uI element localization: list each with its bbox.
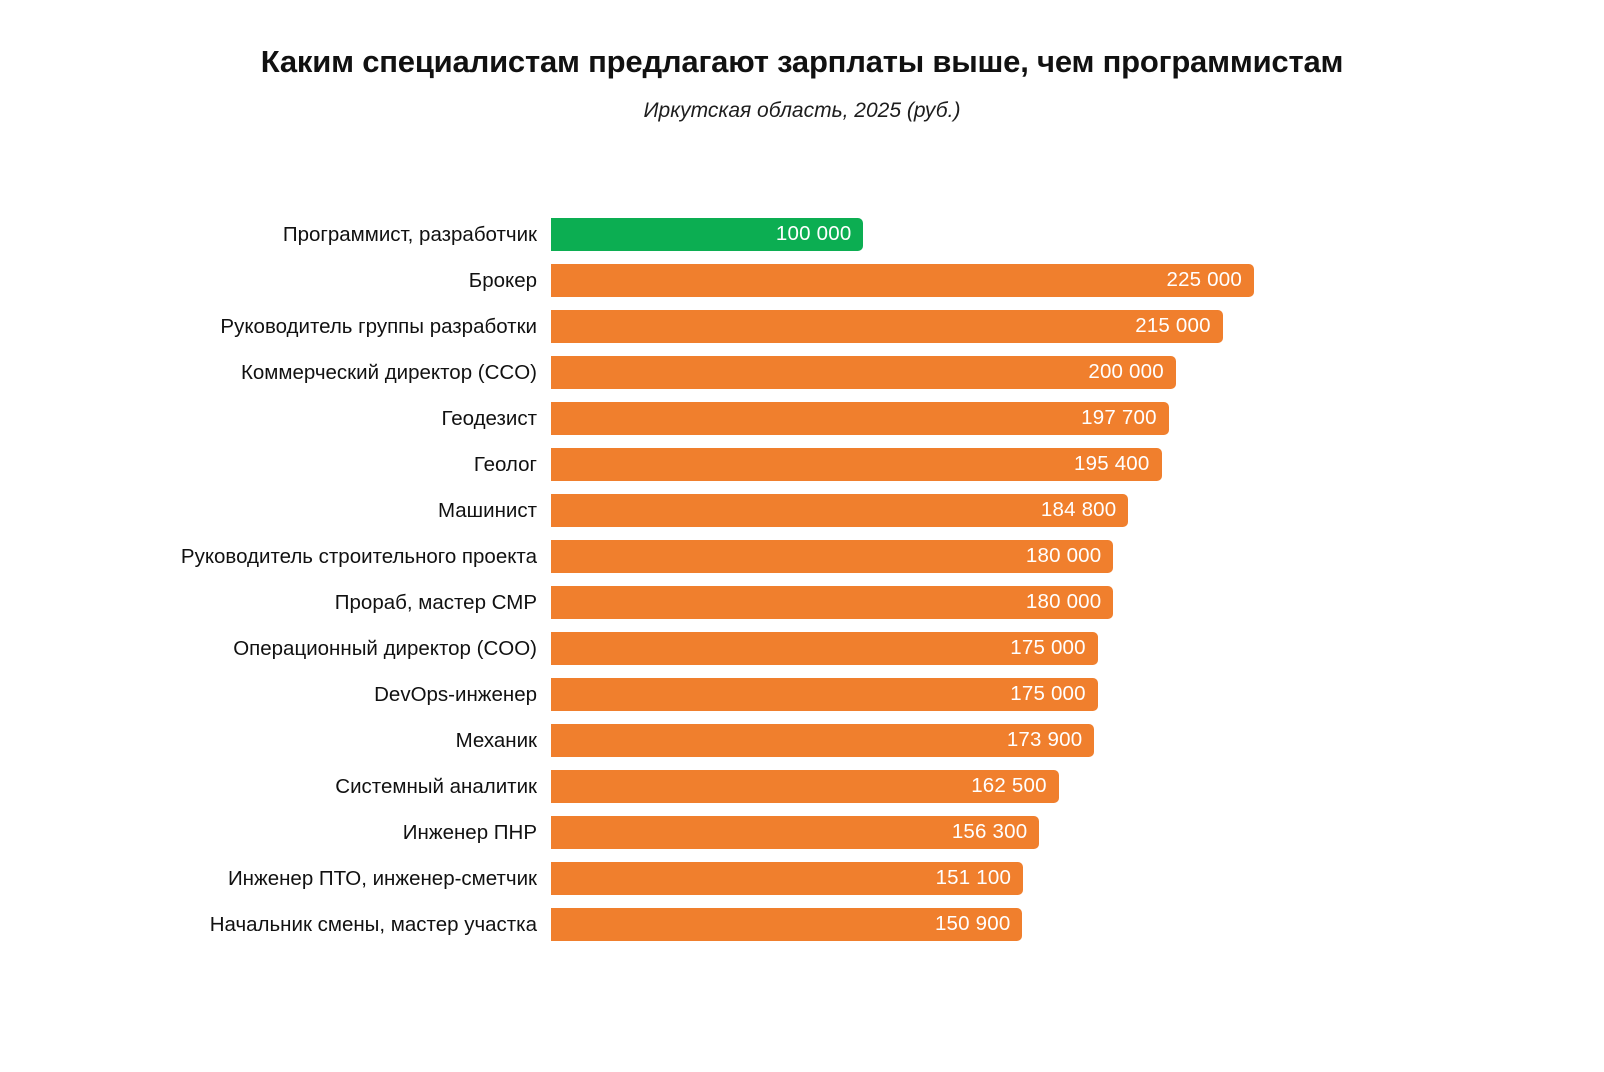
category-label: Геодезист (0, 409, 537, 430)
bar: 180 000 (551, 586, 1113, 619)
bar: 225 000 (551, 264, 1254, 297)
bar-track: 225 000 (551, 264, 1254, 297)
bar-value-label: 156 300 (952, 822, 1028, 843)
bar-value-label: 215 000 (1135, 316, 1211, 337)
chart-header: Каким специалистам предлагают зарплаты в… (0, 0, 1604, 123)
category-label: Системный аналитик (0, 777, 537, 798)
bar: 215 000 (551, 310, 1223, 343)
bar-value-label: 173 900 (1007, 730, 1083, 751)
bar-value-label: 175 000 (1010, 684, 1086, 705)
bar: 195 400 (551, 448, 1162, 481)
chart-subtitle: Иркутская область, 2025 (руб.) (0, 98, 1604, 123)
bar-track: 180 000 (551, 540, 1113, 573)
bar-track: 197 700 (551, 402, 1169, 435)
category-label: Брокер (0, 271, 537, 292)
bar-value-label: 150 900 (935, 914, 1011, 935)
chart-row: Прораб, мастер СМР180 000 (0, 580, 1604, 626)
bar-track: 200 000 (551, 356, 1176, 389)
chart-row: Механик173 900 (0, 718, 1604, 764)
bar-track: 180 000 (551, 586, 1113, 619)
bar: 151 100 (551, 862, 1023, 895)
bar-value-label: 195 400 (1074, 454, 1150, 475)
chart-row: Системный аналитик162 500 (0, 764, 1604, 810)
category-label: Геолог (0, 455, 537, 476)
bar: 100 000 (551, 218, 863, 251)
bar-value-label: 175 000 (1010, 638, 1086, 659)
chart-row: Инженер ПНР156 300 (0, 810, 1604, 856)
bar-track: 215 000 (551, 310, 1223, 343)
bar-track: 175 000 (551, 678, 1098, 711)
bar-track: 162 500 (551, 770, 1059, 803)
category-label: Начальник смены, мастер участка (0, 915, 537, 936)
bar-value-label: 162 500 (971, 776, 1047, 797)
bar: 175 000 (551, 632, 1098, 665)
category-label: Коммерческий директор (CCO) (0, 363, 537, 384)
bar: 156 300 (551, 816, 1039, 849)
bar: 162 500 (551, 770, 1059, 803)
bar-value-label: 200 000 (1088, 362, 1164, 383)
category-label: Руководитель группы разработки (0, 317, 537, 338)
bar-track: 100 000 (551, 218, 863, 251)
category-label: Руководитель строительного проекта (0, 547, 537, 568)
bar-track: 173 900 (551, 724, 1094, 757)
bar-track: 195 400 (551, 448, 1162, 481)
bar: 197 700 (551, 402, 1169, 435)
bar-track: 151 100 (551, 862, 1023, 895)
page-title: Каким специалистам предлагают зарплаты в… (92, 44, 1512, 81)
category-label: DevOps-инженер (0, 685, 537, 706)
bar-track: 156 300 (551, 816, 1039, 849)
bar-track: 150 900 (551, 908, 1022, 941)
chart-row: Руководитель группы разработки215 000 (0, 304, 1604, 350)
chart-row: Инженер ПТО, инженер-сметчик151 100 (0, 856, 1604, 902)
category-label: Механик (0, 731, 537, 752)
category-label: Инженер ПНР (0, 823, 537, 844)
bar-value-label: 180 000 (1026, 546, 1102, 567)
chart-row: Программист, разработчик100 000 (0, 212, 1604, 258)
bar: 175 000 (551, 678, 1098, 711)
bar: 150 900 (551, 908, 1022, 941)
category-label: Инженер ПТО, инженер-сметчик (0, 869, 537, 890)
chart-figure: Каким специалистам предлагают зарплаты в… (0, 0, 1604, 1072)
bar: 200 000 (551, 356, 1176, 389)
chart-row: Начальник смены, мастер участка150 900 (0, 902, 1604, 948)
category-label: Прораб, мастер СМР (0, 593, 537, 614)
bar-value-label: 151 100 (936, 868, 1012, 889)
bar-value-label: 100 000 (776, 224, 852, 245)
category-label: Программист, разработчик (0, 225, 537, 246)
bar-value-label: 180 000 (1026, 592, 1102, 613)
bar-value-label: 184 800 (1041, 500, 1117, 521)
chart-row: Геолог195 400 (0, 442, 1604, 488)
bar: 173 900 (551, 724, 1094, 757)
bar-value-label: 197 700 (1081, 408, 1157, 429)
chart-row: Руководитель строительного проекта180 00… (0, 534, 1604, 580)
chart-row: Операционный директор (COO)175 000 (0, 626, 1604, 672)
chart-row: Брокер225 000 (0, 258, 1604, 304)
bar-track: 175 000 (551, 632, 1098, 665)
category-label: Операционный директор (COO) (0, 639, 537, 660)
chart-row: DevOps-инженер175 000 (0, 672, 1604, 718)
chart-row: Машинист184 800 (0, 488, 1604, 534)
bar: 180 000 (551, 540, 1113, 573)
category-label: Машинист (0, 501, 537, 522)
bar-value-label: 225 000 (1166, 270, 1242, 291)
chart-row: Геодезист197 700 (0, 396, 1604, 442)
bar-track: 184 800 (551, 494, 1128, 527)
bar: 184 800 (551, 494, 1128, 527)
bar-chart-plot-area: Программист, разработчик100 000Брокер225… (0, 212, 1604, 948)
chart-row: Коммерческий директор (CCO)200 000 (0, 350, 1604, 396)
